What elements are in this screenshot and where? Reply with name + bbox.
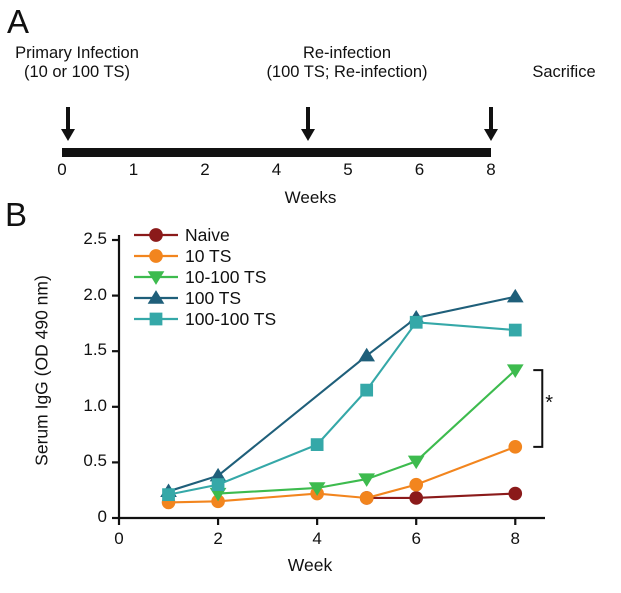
data-point-100-100-ts-week-2 — [212, 478, 225, 491]
data-point-100-100-ts-week-6 — [410, 316, 423, 329]
legend-marker-circle-icon — [132, 225, 180, 245]
down-arrow-icon-primary-infection — [61, 107, 75, 141]
y-tick-label-2.0: 2.0 — [63, 285, 107, 305]
significance-bracket — [533, 370, 542, 447]
legend-item-10-ts[interactable]: 10 TS — [132, 246, 276, 266]
data-point-naive-week-8 — [508, 487, 522, 501]
legend-label-100-ts: 100 TS — [185, 288, 241, 309]
timeline-caption-reinf-line1: Re-infection — [232, 44, 462, 63]
timeline-tick-1: 1 — [119, 160, 149, 180]
timeline-bar — [62, 148, 491, 157]
legend-marker-square-icon — [132, 309, 180, 329]
data-point-100-ts-week-5 — [358, 348, 375, 362]
down-arrow-icon-sacrifice — [484, 107, 498, 141]
y-tick-label-2.5: 2.5 — [63, 229, 107, 249]
chart-legend: Naive10 TS10-100 TS100 TS100-100 TS — [132, 225, 276, 330]
down-arrow-icon-re-infection — [301, 107, 315, 141]
series-line-100-100-ts — [169, 322, 516, 494]
timeline-tick-2: 2 — [190, 160, 220, 180]
x-tick-label-0: 0 — [102, 529, 136, 549]
legend-item-10-100-ts[interactable]: 10-100 TS — [132, 267, 276, 287]
legend-item-naive[interactable]: Naive — [132, 225, 276, 245]
legend-marker-circle-icon — [132, 246, 180, 266]
timeline-tick-4: 4 — [262, 160, 292, 180]
panel-a-label: A — [7, 5, 29, 38]
legend-label-100-100-ts: 100-100 TS — [185, 309, 276, 330]
legend-marker-triangle-up-icon — [132, 288, 180, 308]
y-tick-label-0: 0 — [63, 507, 107, 527]
y-tick-label-1.0: 1.0 — [63, 396, 107, 416]
timeline-caption-reinf-line2: (100 TS; Re-infection) — [232, 63, 462, 82]
legend-label-10-100-ts: 10-100 TS — [185, 267, 266, 288]
significance-asterisk: * — [545, 392, 553, 415]
x-tick-label-4: 4 — [300, 529, 334, 549]
data-point-naive-week-6 — [409, 491, 423, 505]
panel-a-timeline: A Primary Infection (10 or 100 TS) Re-in… — [0, 0, 621, 200]
data-point-10-ts-week-5 — [360, 491, 374, 505]
timeline-caption-primary-infection: Primary Infection (10 or 100 TS) — [2, 44, 152, 82]
timeline-caption-sacrifice-line1: Sacrifice — [512, 63, 616, 82]
series-line-naive — [367, 494, 516, 498]
timeline-caption-sacrifice: Sacrifice — [512, 63, 616, 82]
x-tick-label-8: 8 — [498, 529, 532, 549]
timeline-caption-primary-line1: Primary Infection — [2, 44, 152, 63]
legend-item-100-ts[interactable]: 100 TS — [132, 288, 276, 308]
data-point-10-ts-week-6 — [409, 478, 423, 492]
legend-marker-triangle-down-icon — [132, 267, 180, 287]
legend-label-naive: Naive — [185, 225, 230, 246]
x-tick-label-2: 2 — [201, 529, 235, 549]
data-point-100-100-ts-week-5 — [360, 384, 373, 397]
series-naive — [360, 487, 522, 505]
data-point-100-ts-week-8 — [507, 289, 524, 303]
y-tick-label-1.5: 1.5 — [63, 340, 107, 360]
y-tick-label-0.5: 0.5 — [63, 451, 107, 471]
data-point-100-100-ts-week-4 — [311, 438, 324, 451]
y-axis-title: Serum IgG (OD 490 nm) — [32, 261, 53, 481]
timeline-tick-8: 8 — [476, 160, 506, 180]
legend-label-10-ts: 10 TS — [185, 246, 231, 267]
legend-item-100-100-ts[interactable]: 100-100 TS — [132, 309, 276, 329]
timeline-tick-6: 6 — [405, 160, 435, 180]
data-point-100-100-ts-week-8 — [509, 324, 522, 337]
timeline-caption-primary-line2: (10 or 100 TS) — [2, 63, 152, 82]
timeline-tick-5: 5 — [333, 160, 363, 180]
data-point-10-ts-week-8 — [508, 440, 522, 454]
timeline-tick-0: 0 — [47, 160, 77, 180]
data-point-100-100-ts-week-1 — [162, 488, 175, 501]
panel-b-chart: B Serum IgG (OD 490 nm) Week 00.51.01.52… — [0, 200, 621, 593]
timeline-caption-re-infection: Re-infection (100 TS; Re-infection) — [232, 44, 462, 82]
x-tick-label-6: 6 — [399, 529, 433, 549]
x-axis-title: Week — [120, 555, 500, 576]
significance-bracket-path — [533, 370, 542, 447]
